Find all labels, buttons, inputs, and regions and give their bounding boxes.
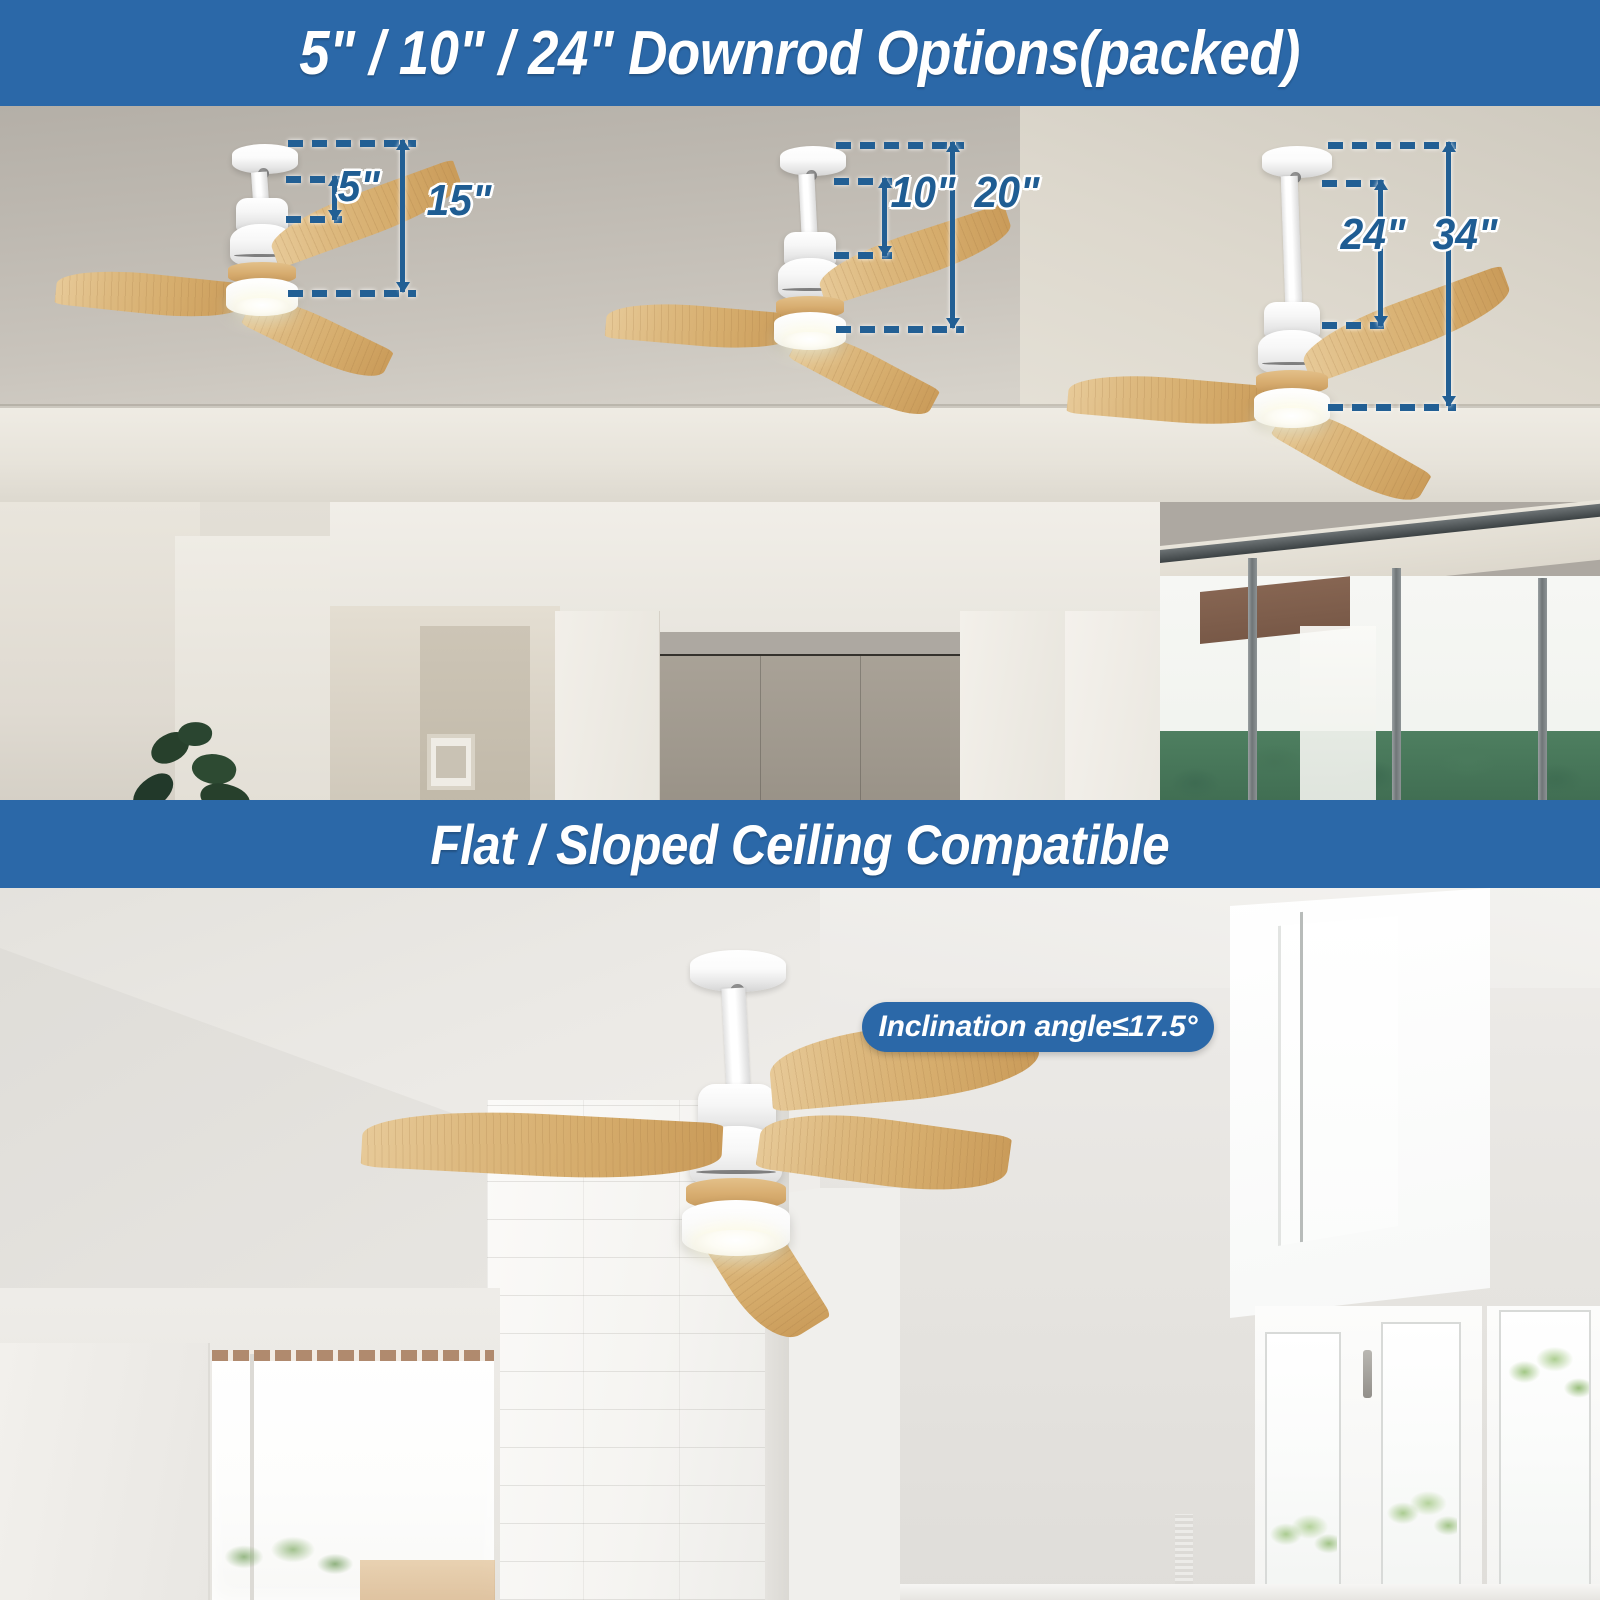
banner-ceiling-compatibility: Flat / Sloped Ceiling Compatible	[0, 800, 1600, 888]
exterior-roofline	[360, 1560, 495, 1600]
left-wall-panel	[0, 1343, 210, 1600]
dimension-label-downrod-10: 10"	[890, 168, 955, 218]
door-handle[interactable]	[1363, 1350, 1372, 1398]
door-foliage-3	[1503, 1324, 1589, 1484]
oven-cabinet-column	[960, 611, 1065, 800]
wall-vent	[1175, 1514, 1193, 1584]
baseboard	[900, 1584, 1600, 1600]
white-tall-cabinet-left	[555, 611, 660, 800]
left-opening-header	[212, 1350, 494, 1361]
dimension-label-downrod-5: 5"	[338, 162, 380, 212]
upper-window-mullion	[1300, 912, 1303, 1242]
banner-top-text: 5" / 10" / 24" Downrod Options(packed)	[300, 18, 1301, 89]
door-foliage-2	[1385, 1476, 1457, 1600]
cabinet-seam-1	[760, 656, 761, 800]
white-tall-cabinet-right	[1065, 611, 1165, 800]
flat-ceiling-room-photo: 5" 15" 1	[0, 106, 1600, 800]
window-mullion-2	[1392, 568, 1401, 800]
cabinet-seam-2	[860, 656, 861, 800]
sloped-ceiling-room-photo: Inclination angle≤17.5°	[0, 888, 1600, 1600]
dimension-label-total-20: 20"	[974, 168, 1039, 218]
banner-middle-text: Flat / Sloped Ceiling Compatible	[431, 812, 1170, 877]
window-blind	[1300, 626, 1376, 800]
garden-hedge	[1160, 731, 1600, 800]
exterior-foliage-left	[216, 1528, 356, 1600]
inclination-angle-text: Inclination angle≤17.5°	[879, 1010, 1198, 1044]
dimension-label-total-34: 34"	[1432, 210, 1497, 260]
window-mullion-3	[1538, 578, 1547, 800]
french-doors	[1255, 1306, 1600, 1600]
banner-downrod-options: 5" / 10" / 24" Downrod Options(packed)	[0, 0, 1600, 106]
dimension-label-downrod-24: 24"	[1340, 210, 1405, 260]
product-feature-page: 5" / 10" / 24" Downrod Options(packed)	[0, 0, 1600, 1600]
inclination-angle-badge: Inclination angle≤17.5°	[862, 1002, 1214, 1052]
upper-window-glass	[1278, 916, 1398, 1246]
dimension-label-total-15: 15"	[426, 176, 491, 226]
window-mullion-1	[1248, 558, 1257, 800]
greige-upper-cabinets	[660, 656, 960, 800]
wall-art-image	[436, 746, 466, 778]
